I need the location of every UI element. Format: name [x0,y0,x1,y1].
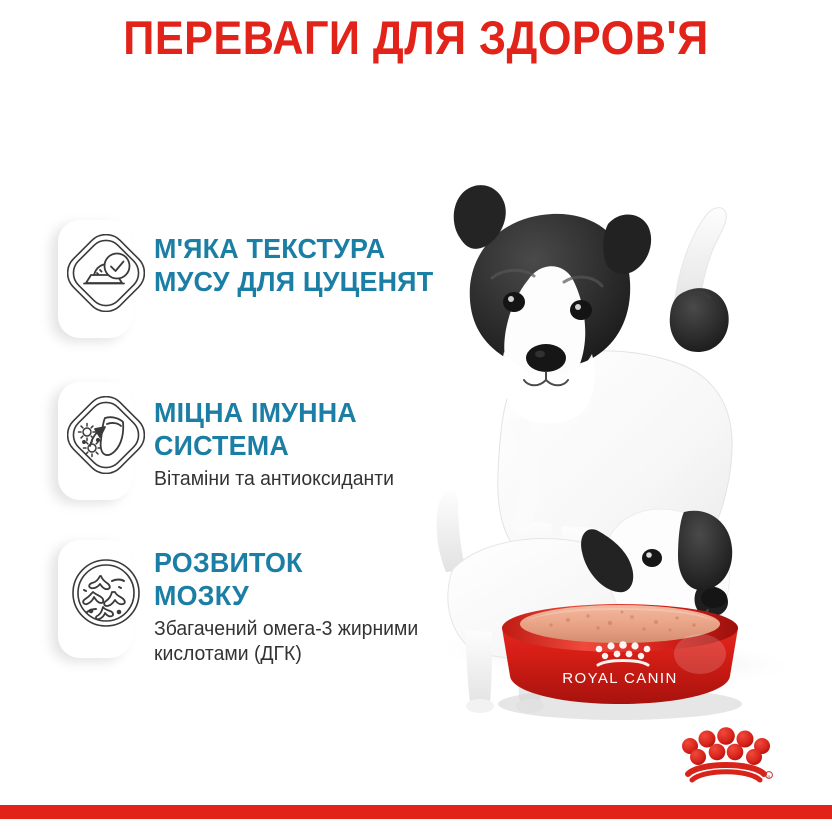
benefit-text: М'ЯКА ТЕКСТУРА МУСУ ДЛЯ ЦУЦЕНЯТ [154,214,445,298]
benefit-item-soft-texture: М'ЯКА ТЕКСТУРА МУСУ ДЛЯ ЦУЦЕНЯТ [58,214,488,332]
bowl-brand-text: ROYAL CANIN [562,670,677,687]
page-title: ПЕРЕВАГИ ДЛЯ ЗДОРОВ'Я [33,10,798,65]
brain-cells-icon [58,534,154,652]
benefit-title: МІЦНА ІМУННА СИСТЕМА [154,396,391,462]
benefit-title: М'ЯКА ТЕКСТУРА МУСУ ДЛЯ ЦУЦЕНЯТ [154,232,433,298]
benefit-subtitle: Збагачений омега-3 жирними кислотами (ДГ… [154,617,418,667]
royal-canin-crown-logo: R [676,722,776,784]
bowl-check-icon [58,214,154,332]
benefit-subtitle: Вітаміни та антиоксиданти [154,467,394,492]
benefit-item-brain-development: РОЗВИТОК МОЗКУ Збагачений омега-3 жирним… [58,534,488,667]
promo-banner: ROYAL CANIN ПЕРЕВАГИ ДЛЯ ЗДОРОВ'Я [0,0,832,832]
svg-text:R: R [768,774,771,779]
benefit-text: РОЗВИТОК МОЗКУ Збагачений омега-3 жирним… [154,534,426,667]
benefits-list: М'ЯКА ТЕКСТУРА МУСУ ДЛЯ ЦУЦЕНЯТ [58,214,488,711]
shield-germs-icon [58,376,154,494]
benefit-title: РОЗВИТОК МОЗКУ [154,546,415,612]
benefit-item-immune-system: МІЦНА ІМУННА СИСТЕМА Вітаміни та антиокс… [58,376,488,494]
benefit-text: МІЦНА ІМУННА СИСТЕМА Вітаміни та антиокс… [154,376,401,492]
bottom-red-bar [0,805,832,819]
